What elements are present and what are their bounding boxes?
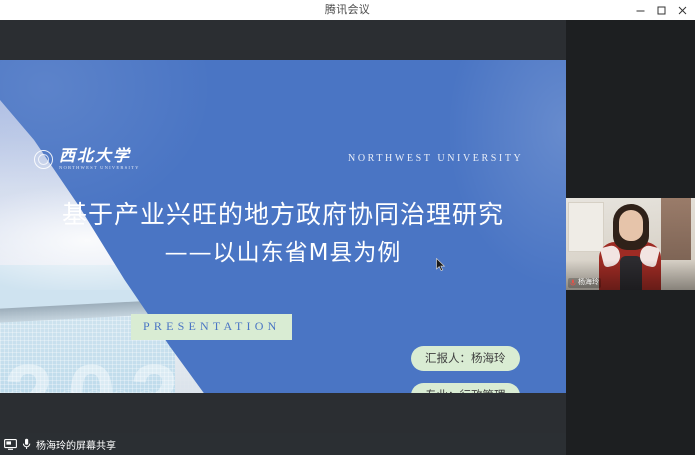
video-participant-name: 杨海玲 [578,278,599,288]
major-pill: 专业：行政管理 [411,383,520,393]
tencent-meeting-window: 腾讯会议 [0,0,695,455]
presentation-slide: 2023 西北大学 NORTHWEST UNIVERSITY NORTHWEST… [0,60,566,393]
pen-icon[interactable]: ✎ [60,390,77,393]
title-bar: 腾讯会议 [0,0,695,21]
university-name-cn: 西北大学 [59,148,140,164]
video-person-face [619,210,643,241]
window-controls [630,0,693,20]
meeting-body: 2023 西北大学 NORTHWEST UNIVERSITY NORTHWEST… [0,20,695,455]
participant-panel: 杨海玲 [566,20,695,455]
university-name-en: NORTHWEST UNIVERSITY [59,166,140,171]
university-logo-text: 西北大学 NORTHWEST UNIVERSITY [59,148,140,171]
university-seal-icon [34,150,53,169]
maximize-icon [656,5,667,16]
video-mic-icon [570,279,576,287]
slide-brand-english: NORTHWEST UNIVERSITY [348,153,523,164]
presenter-pill: 汇报人：杨海玲 [411,346,520,371]
presentation-chip: PRESENTATION [131,314,292,340]
microphone-icon [22,438,31,450]
maximize-button[interactable] [651,0,672,20]
grid-view-icon[interactable]: ▦ [86,390,103,393]
close-icon [677,5,688,16]
slide-title-line-1: 基于产业兴旺的地方政府协同治理研究 [0,195,566,231]
share-status-text: 杨海玲的屏幕共享 [36,437,116,452]
close-button[interactable] [672,0,693,20]
share-status-bar: 杨海玲的屏幕共享 [0,433,570,455]
video-name-badge: 杨海玲 [568,278,601,288]
minimize-icon [635,5,646,16]
slide-title-line-2: ——以山东省M县为例 [0,233,566,267]
video-wall-panel [568,202,604,252]
participant-video-tile[interactable]: 杨海玲 [566,198,695,290]
window-title: 腾讯会议 [0,0,695,20]
screen-share-icon [4,439,17,450]
shared-screen-stage[interactable]: 2023 西北大学 NORTHWEST UNIVERSITY NORTHWEST… [0,20,566,433]
powerpoint-presenter-toolbar[interactable]: ‹ › ✎ ▦ ⌕ ⋯ [8,390,155,393]
zoom-icon[interactable]: ⌕ [112,390,129,393]
minimize-button[interactable] [630,0,651,20]
more-options-icon[interactable]: ⋯ [138,390,155,393]
university-logo: 西北大学 NORTHWEST UNIVERSITY [34,148,140,171]
previous-slide-icon[interactable]: ‹ [8,390,25,393]
video-door [661,198,691,260]
next-slide-icon[interactable]: › [34,390,51,393]
